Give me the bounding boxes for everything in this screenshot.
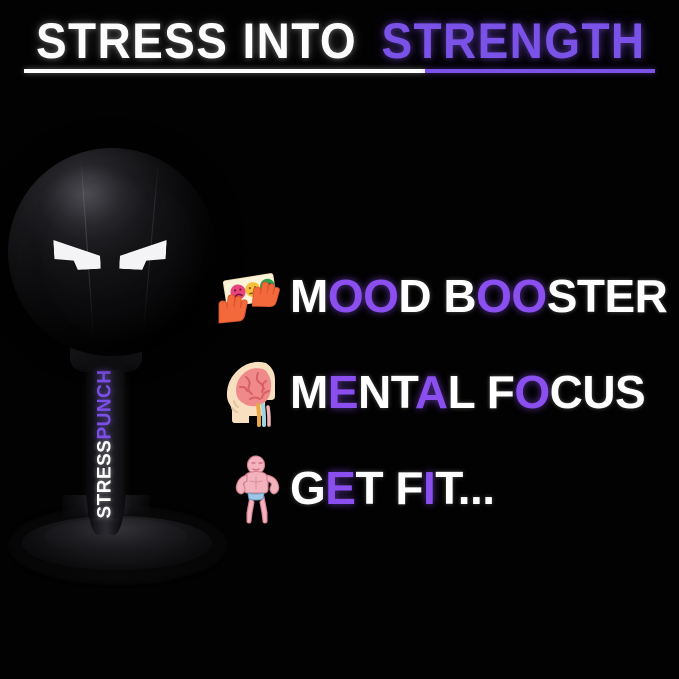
label-seg: G [290,462,325,514]
punching-ball-product: STRESSPUNCH [0,120,235,590]
poster-title: STRESS INTO STRENGTH [0,16,679,66]
ball-highlight [45,169,145,240]
label-seg: M [290,366,328,418]
title-line: STRESS INTO STRENGTH [22,16,658,66]
label-seg: CUS [550,366,646,418]
label-seg: OO [328,270,399,322]
product-brand-label: STRESSPUNCH [88,370,124,518]
title-underline [24,69,656,73]
label-seg: L F [448,366,515,418]
angry-eye-right-icon [119,235,167,271]
feature-label-mental-focus: MENTAL FOCUS [290,369,645,415]
angry-eye-left-icon [53,235,101,271]
brand-label-text: STRESSPUNCH [95,369,117,518]
flexing-arm-icon [220,451,294,525]
label-seg: A [415,366,448,418]
title-text-purple: STRENGTH [382,16,646,66]
label-seg: NT [358,366,415,418]
feature-row-mental-focus: MENTAL FOCUS [212,344,679,440]
feature-list: MOOD BOOSTER [212,248,679,536]
label-seg: STER [547,270,668,322]
feature-label-get-fit: GET FIT... [290,465,495,511]
brand-label-stress: STRESS [95,440,116,519]
label-seg: D B [398,270,476,322]
label-seg: OO [476,270,547,322]
feature-label-mood-booster: MOOD BOOSTER [290,273,667,319]
punching-ball [8,148,216,356]
label-seg: M [290,270,328,322]
title-underline-purple [425,69,656,73]
label-seg: E [325,462,355,514]
label-seg: E [328,366,358,418]
feature-row-mood-booster: MOOD BOOSTER [212,248,679,344]
label-seg: T F [355,462,422,514]
brain-head-icon [214,355,288,429]
brand-label-punch: PUNCH [95,369,116,439]
label-seg: T... [435,462,494,514]
poster-canvas: STRESS INTO STRENGTH STRESSPUNCH [0,0,679,679]
label-seg: O [514,366,549,418]
label-seg: I [423,462,435,514]
title-text-white: STRESS INTO [35,16,356,66]
title-underline-white [24,69,425,73]
feature-row-get-fit: GET FIT... [212,440,679,536]
mood-survey-icon [214,263,288,337]
